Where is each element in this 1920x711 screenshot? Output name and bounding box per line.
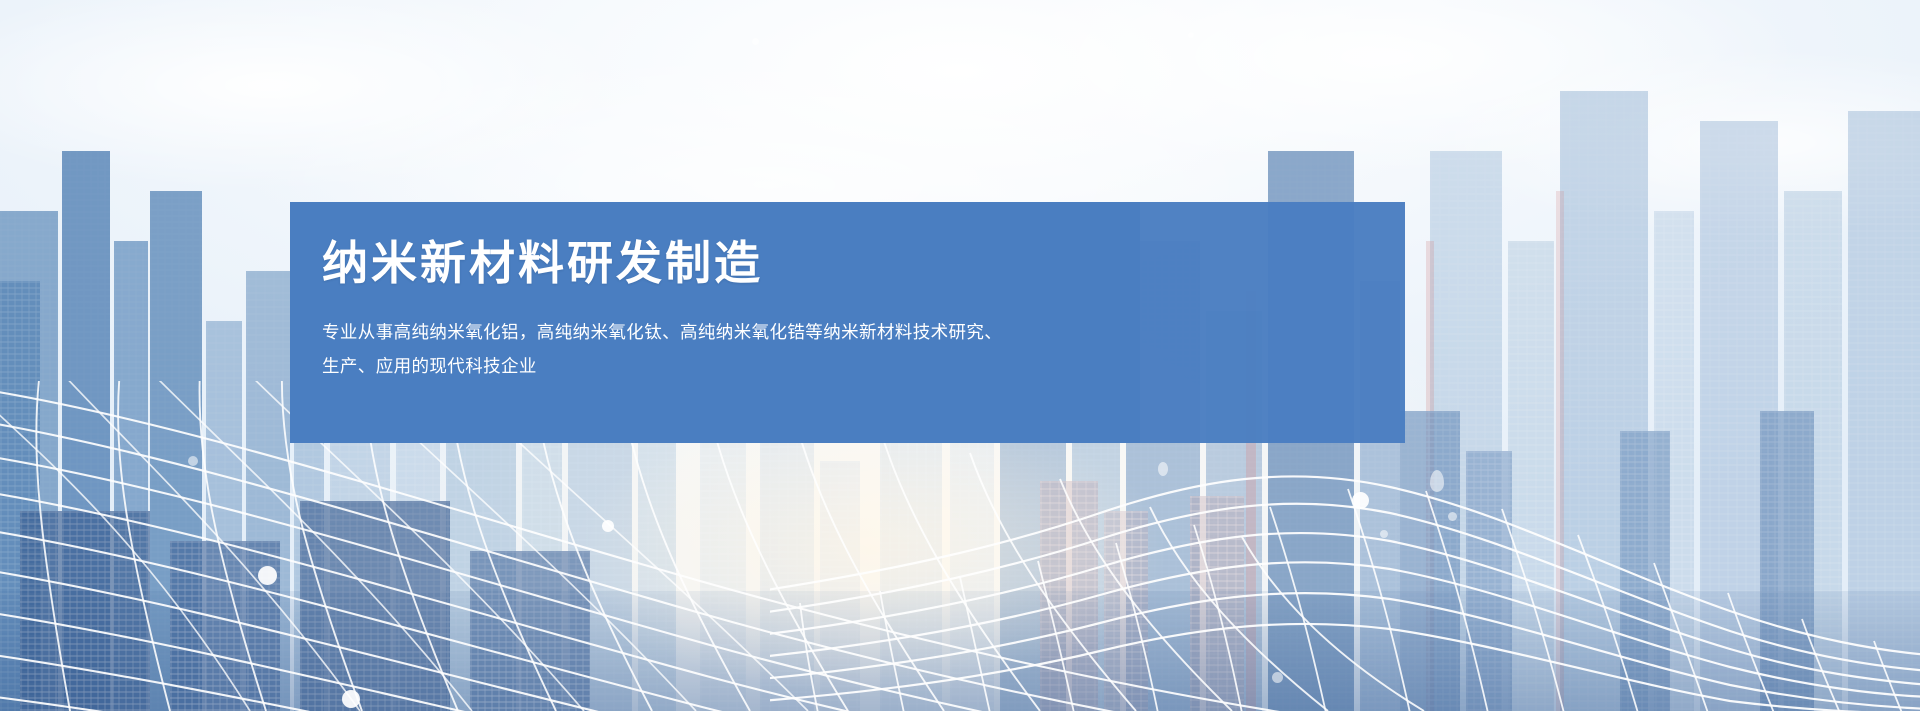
page-subtitle: 专业从事高纯纳米氧化铝，高纯纳米氧化钛、高纯纳米氧化锆等纳米新材料技术研究、 生… [322, 315, 1402, 383]
bokeh-dot [1448, 512, 1457, 521]
wireframe-mesh-right [770, 451, 1920, 711]
hero-text-layer: 纳米新材料研发制造 专业从事高纯纳米氧化铝，高纯纳米氧化钛、高纯纳米氧化锆等纳米… [290, 202, 1420, 443]
hero-banner: 纳米新材料研发制造 专业从事高纯纳米氧化铝，高纯纳米氧化钛、高纯纳米氧化锆等纳米… [0, 0, 1920, 711]
bokeh-dot [752, 38, 759, 45]
bokeh-dot [602, 520, 614, 532]
page-title: 纳米新材料研发制造 [322, 240, 763, 286]
subtitle-line-2: 生产、应用的现代科技企业 [322, 349, 1402, 383]
bokeh-dot [188, 456, 198, 466]
bokeh-dot [1272, 672, 1283, 683]
bokeh-dot [258, 566, 277, 585]
bokeh-dot [1430, 470, 1444, 492]
bokeh-dot [1188, 32, 1194, 38]
bokeh-dot [1352, 492, 1369, 509]
bokeh-dot [342, 690, 360, 708]
bokeh-dot [1158, 462, 1168, 476]
bokeh-dot [1380, 530, 1388, 538]
subtitle-line-1: 专业从事高纯纳米氧化铝，高纯纳米氧化钛、高纯纳米氧化锆等纳米新材料技术研究、 [322, 315, 1402, 349]
